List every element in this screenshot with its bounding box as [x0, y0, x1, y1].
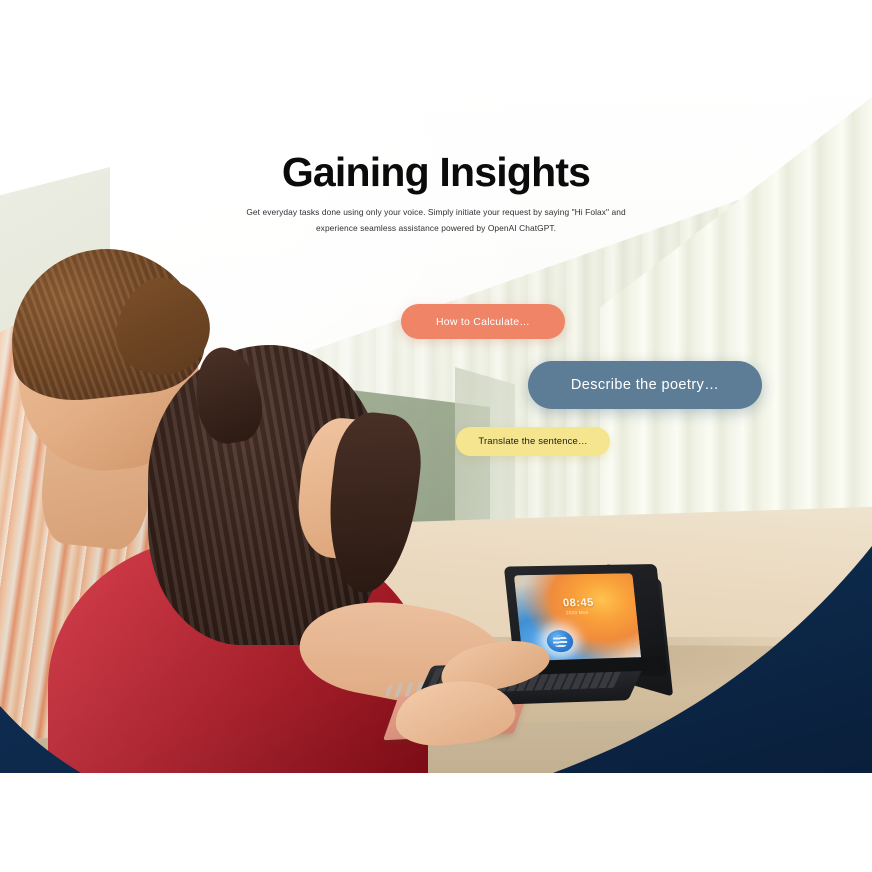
chat-bubble-poetry-label: Describe the poetry… [571, 377, 719, 393]
page-root: 08:45 2023 Mon Gaining Insights [0, 0, 872, 872]
chat-bubble-translate[interactable]: Translate the sentence… [456, 427, 610, 456]
tablet-clock-date: 2023 Mon [566, 611, 589, 616]
page-subtitle: Get everyday tasks done using only your … [236, 204, 636, 237]
hero-photo: 08:45 2023 Mon [0, 97, 872, 773]
chat-bubble-poetry[interactable]: Describe the poetry… [528, 361, 762, 409]
voice-assistant-orb-icon[interactable] [546, 630, 574, 652]
chat-bubble-calculate[interactable]: How to Calculate… [401, 304, 565, 339]
tablet-clock-time: 08:45 [563, 598, 595, 609]
chat-bubble-translate-label: Translate the sentence… [478, 436, 587, 447]
page-title: Gaining Insights [0, 149, 872, 196]
chat-bubble-calculate-label: How to Calculate… [436, 316, 530, 328]
